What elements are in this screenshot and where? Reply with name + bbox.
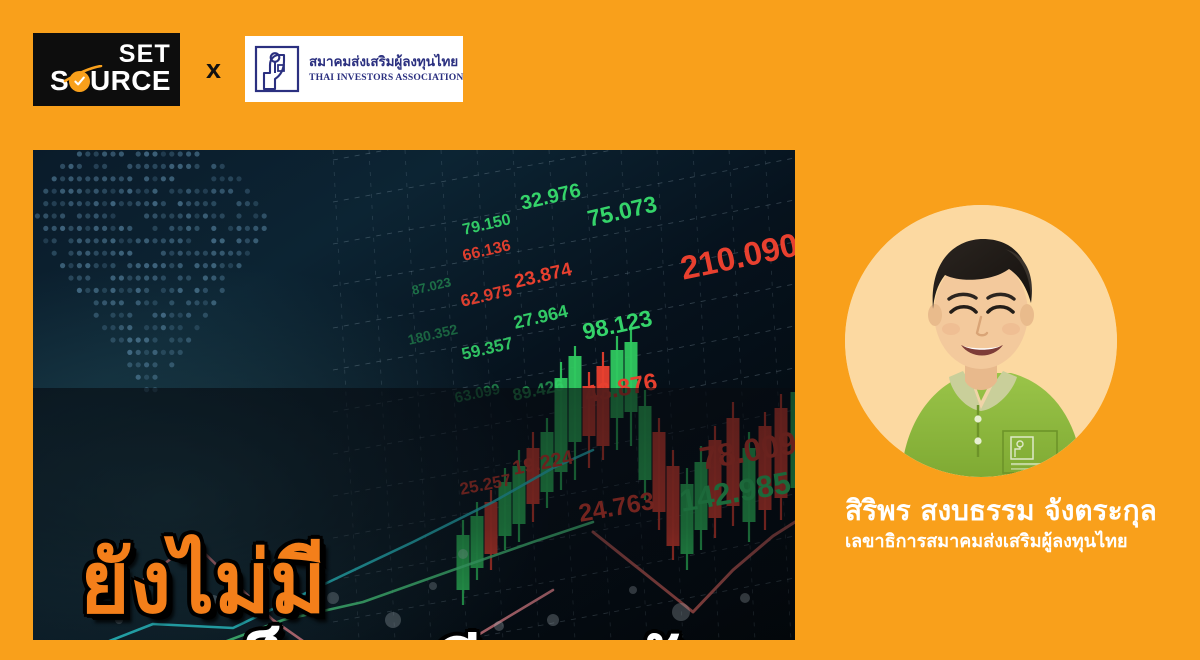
- speaker-block: สิริพร สงบธรรม จังตระกุล เลขาธิการสมาคมส…: [845, 205, 1117, 553]
- tia-emblem-icon: [254, 45, 300, 93]
- setsource-logo-line2: S URCE: [50, 66, 171, 95]
- tia-english-name: THAI INVESTORS ASSOCIATION: [309, 72, 463, 84]
- tia-logo: สมาคมส่งเสริมผู้ลงทุนไทย THAI INVESTORS …: [245, 36, 463, 102]
- check-icon: [69, 71, 90, 92]
- setsource-logo-urce: URCE: [90, 66, 171, 95]
- speaker-portrait-illustration: [845, 205, 1117, 477]
- tia-thai-name: สมาคมส่งเสริมผู้ลงทุนไทย: [309, 54, 463, 70]
- setsource-logo-line1: SET: [119, 42, 171, 67]
- tia-logo-text: สมาคมส่งเสริมผู้ลงทุนไทย THAI INVESTORS …: [309, 54, 463, 84]
- headline-block: ยังไม่มี การเก็บภาษีขายหุ้น: [80, 542, 795, 640]
- setsource-logo-s: S: [50, 66, 69, 95]
- hero-image: 87.02379.15066.13632.97675.07323.87462.9…: [33, 150, 795, 640]
- headline-line-1: ยังไม่มี: [80, 542, 795, 625]
- logo-separator-x: x: [206, 54, 221, 85]
- speaker-name: สิริพร สงบธรรม จังตระกุล: [845, 495, 1117, 527]
- headline-line-2: การเก็บภาษีขายหุ้น: [80, 635, 795, 640]
- speaker-avatar: [845, 205, 1117, 477]
- logo-bar: SET S URCE x: [33, 32, 463, 106]
- poster-canvas: SET S URCE x: [0, 0, 1200, 660]
- setsource-logo: SET S URCE: [33, 33, 180, 106]
- speaker-title: เลขาธิการสมาคมส่งเสริมผู้ลงทุนไทย: [845, 531, 1117, 553]
